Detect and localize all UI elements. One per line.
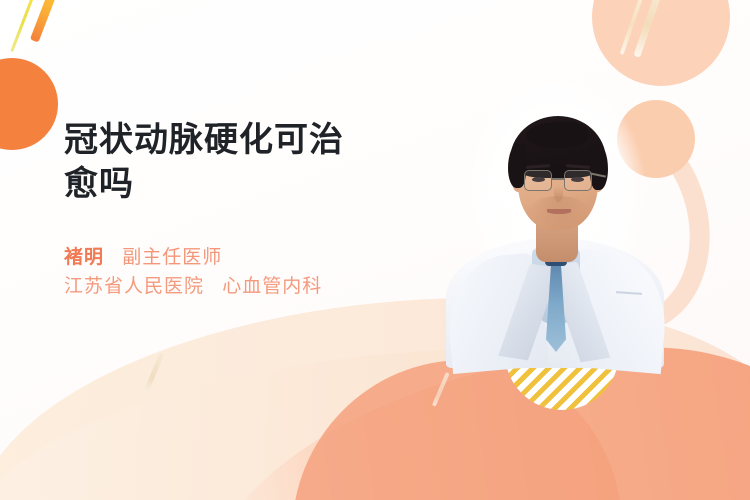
coral-wave-lobe (292, 360, 622, 500)
eyeglasses-lens-left (524, 170, 552, 191)
doctor-name: 褚明 (64, 247, 104, 268)
peach-circle-decoration (592, 0, 730, 86)
hair-side-right (590, 144, 608, 190)
doctor-info-card: 冠状动脉硬化可治 愈吗 褚明 副主任医师 江苏省人民医院 心血管内科 (0, 0, 750, 500)
cream-diagonal-stripe-a (620, 0, 649, 55)
orange-circle-decoration (0, 58, 58, 150)
text-content: 冠状动脉硬化可治 愈吗 褚明 副主任医师 江苏省人民医院 心血管内科 (64, 118, 414, 302)
orange-diagonal-stripe (30, 0, 63, 43)
nose (554, 186, 563, 202)
doctor-portrait (440, 88, 670, 360)
doctor-credentials-row: 褚明 副主任医师 (64, 244, 414, 272)
byline: 褚明 副主任医师 江苏省人民医院 心血管内科 (64, 244, 414, 302)
page-title: 冠状动脉硬化可治 愈吗 (64, 118, 414, 206)
department-name: 心血管内科 (222, 276, 322, 297)
yellow-diagonal-stripe (10, 0, 39, 52)
eyeglasses-lens-right (564, 170, 592, 191)
eyeglasses-bridge (552, 178, 564, 180)
hospital-name: 江苏省人民医院 (64, 276, 204, 297)
mouth (547, 209, 571, 214)
cream-diagonal-stripe-bottom (143, 352, 165, 394)
doctor-affiliation-row: 江苏省人民医院 心血管内科 (64, 272, 414, 302)
cream-diagonal-stripe-right (432, 372, 450, 407)
cream-diagonal-stripe-b (633, 0, 666, 58)
doctor-title: 副主任医师 (122, 247, 222, 268)
